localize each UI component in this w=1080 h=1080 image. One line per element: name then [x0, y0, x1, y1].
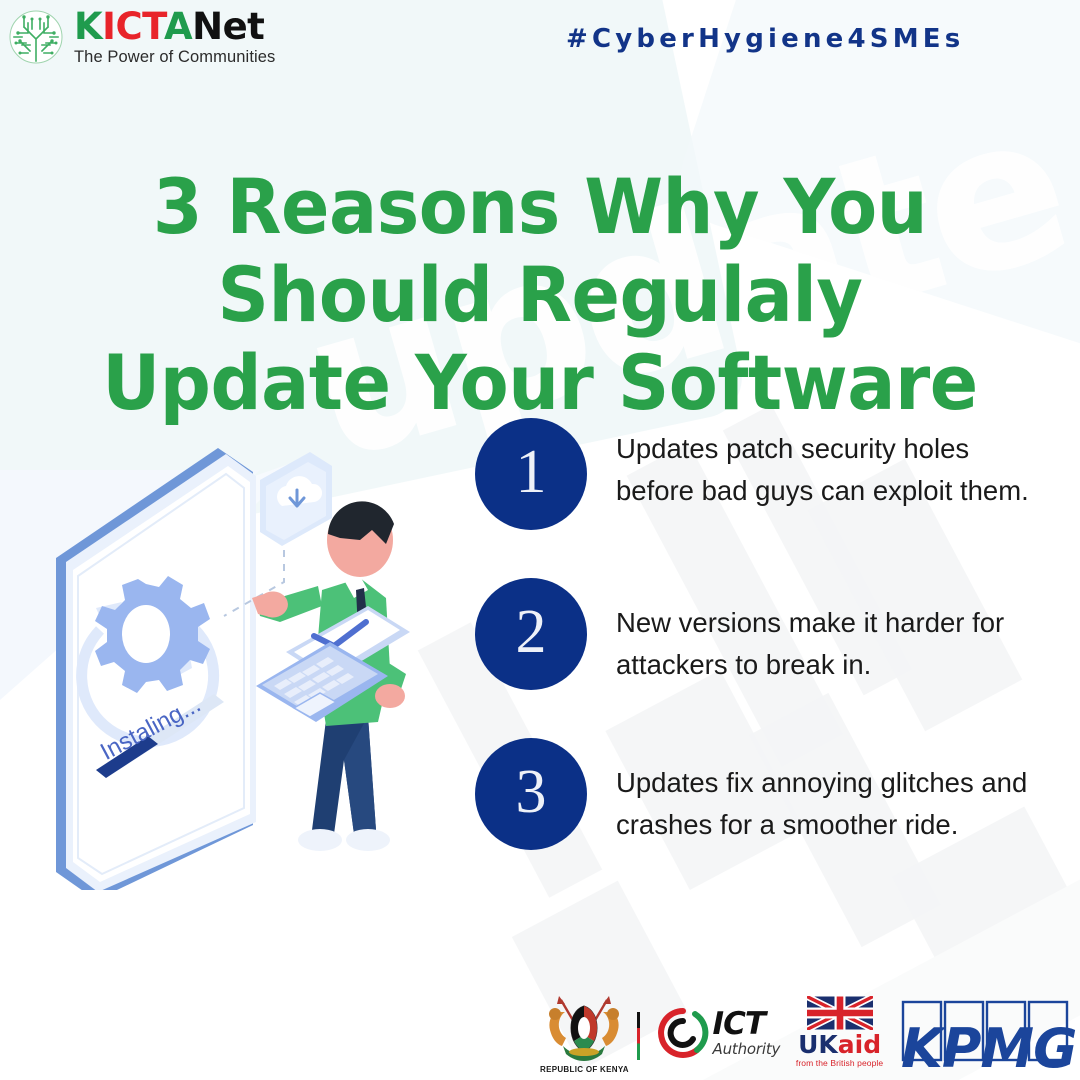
kenya-flag-divider	[637, 1012, 640, 1060]
poster-header: KICTANet The Power of Communities #Cyber…	[0, 0, 1080, 86]
partner-logos-footer: REPUBLIC OF KENYA ICT Authority	[540, 982, 1074, 1074]
ict-authority-sub-text: Authority	[713, 1042, 781, 1057]
page-title: 3 Reasons Why You Should Regulaly Update…	[89, 163, 991, 427]
ukaid-logo: UKaid from the British people	[796, 996, 883, 1068]
infographic-poster: update	[0, 0, 1080, 1080]
kictanet-wordmark: KICTANet	[74, 8, 275, 45]
kictanet-logo-text: KICTANet The Power of Communities	[74, 8, 275, 66]
kenya-coat-of-arms-icon	[541, 994, 627, 1064]
ict-authority-main-text: ICT	[713, 1009, 781, 1040]
reasons-list: 1 Updates patch security holes before ba…	[475, 418, 1055, 850]
circuit-tree-emblem-icon	[8, 9, 64, 65]
ict-authority-logo: ICT Authority	[656, 1006, 781, 1060]
reason-text: New versions make it harder for attacker…	[616, 602, 1055, 686]
cloud-download-card	[260, 452, 332, 546]
ukaid-uk-text: UK	[798, 1030, 838, 1059]
wordmark-part-ict: ICT	[102, 5, 164, 48]
list-item: 1 Updates patch security holes before ba…	[475, 418, 1055, 530]
ukaid-wordmark: UKaid	[798, 1032, 881, 1057]
reason-text: Updates fix annoying glitches and crashe…	[616, 762, 1055, 846]
wordmark-part-a: A	[164, 5, 192, 48]
kpmg-logo: KPMG	[899, 1000, 1074, 1074]
list-item: 2 New versions make it harder for attack…	[475, 578, 1055, 690]
kenya-logo-caption: REPUBLIC OF KENYA	[540, 1065, 629, 1074]
wordmark-part-net: Net	[192, 5, 264, 48]
kpmg-wordmark: KPMG	[901, 1022, 1076, 1076]
illustration-svg	[38, 430, 468, 890]
brand-tagline: The Power of Communities	[74, 49, 275, 66]
republic-of-kenya-logo: REPUBLIC OF KENYA	[540, 994, 640, 1074]
ukaid-subtitle: from the British people	[796, 1058, 883, 1068]
reason-text: Updates patch security holes before bad …	[616, 428, 1046, 512]
reason-number-badge: 2	[475, 578, 587, 690]
union-jack-flag-icon	[807, 996, 873, 1030]
reason-number-badge: 1	[475, 418, 587, 530]
ict-authority-swirl-icon	[656, 1006, 710, 1060]
campaign-hashtag: #CyberHygiene4SMEs	[566, 24, 964, 54]
list-item: 3 Updates fix annoying glitches and cras…	[475, 738, 1055, 850]
kictanet-logo[interactable]: KICTANet The Power of Communities	[8, 8, 275, 66]
reason-number-badge: 3	[475, 738, 587, 850]
wordmark-part-k: K	[74, 5, 102, 48]
ukaid-aid-text: aid	[838, 1030, 881, 1059]
software-update-illustration	[38, 430, 468, 890]
